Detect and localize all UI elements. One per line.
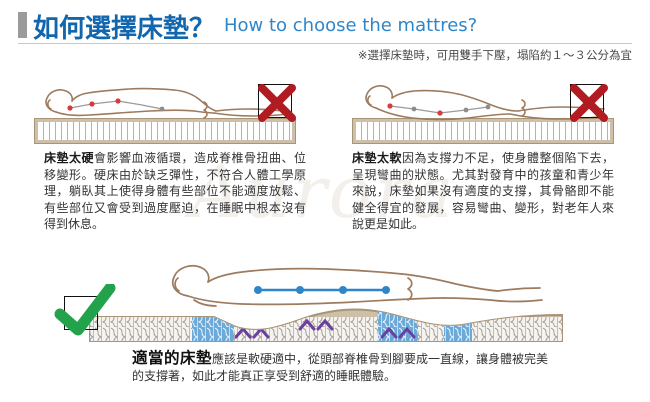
mattress-just-right xyxy=(86,303,566,345)
figure-too-hard xyxy=(34,78,296,126)
heading-too-hard: 床墊太硬 xyxy=(44,151,94,165)
page-subtitle: How to choose the mattres? xyxy=(224,15,477,36)
x-mark-box-right xyxy=(570,84,604,118)
header-divider xyxy=(18,43,632,44)
text-just-right: 適當的床墊應該是軟硬適中，從頭部脊椎骨到腳要成一直線，讓身體被完美的支撐著，如此… xyxy=(132,350,552,384)
heading-too-soft: 床墊太軟 xyxy=(352,151,402,165)
header-note: ※選擇床墊時，可用雙手下壓，塌陷約１～３公分為宜 xyxy=(358,47,632,63)
x-mark-box-left xyxy=(258,84,292,118)
check-mark-box xyxy=(64,296,98,330)
text-too-hard: 床墊太硬會影響血液循環，造成脊椎骨扭曲、位移變形。硬床由於缺乏彈性，不符合人體工… xyxy=(44,150,306,233)
infographic-page: Aurora 如何選擇床墊？ How to choose the mattres… xyxy=(0,0,650,402)
heading-just-right: 適當的床墊 xyxy=(132,349,212,367)
text-too-soft: 床墊太軟因為支撐力不足，使身體整個陷下去，呈現彎曲的狀態。尤其對發育中的孩童和青… xyxy=(352,150,614,233)
title-accent-bar xyxy=(18,12,27,38)
page-title: 如何選擇床墊？ xyxy=(33,8,215,45)
header: 如何選擇床墊？ How to choose the mattres? ※選擇床墊… xyxy=(0,0,650,62)
